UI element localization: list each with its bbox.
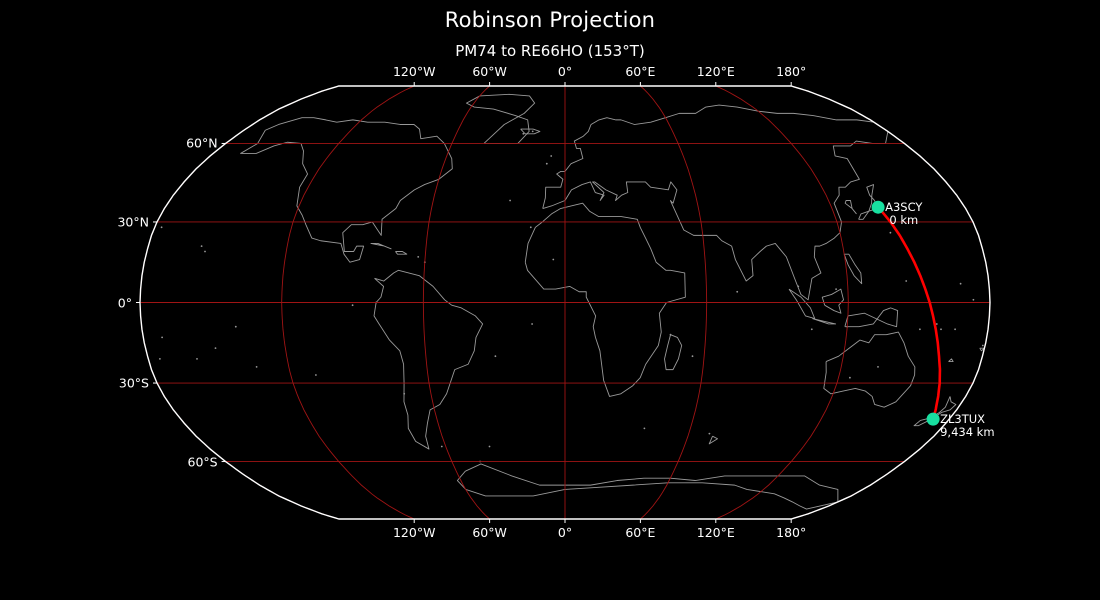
lon-tick-label-bottom: 180° [776, 525, 806, 540]
coastlines-layer [159, 94, 984, 509]
island-dot [495, 355, 497, 357]
island-dot [256, 366, 258, 368]
station-label-zl3tux: ZL3TUX9,434 km [940, 413, 994, 439]
island-dot [531, 323, 533, 325]
coastline-polygon [859, 185, 877, 220]
lat-tick-label: 30°N [117, 214, 149, 229]
island-dot [235, 326, 237, 328]
lon-tick-label-top: 180° [776, 64, 806, 79]
island-dot [940, 328, 942, 330]
coastline-polygon [844, 254, 862, 284]
map-canvas [0, 0, 1100, 600]
graticule-layer [140, 86, 990, 519]
island-dot [692, 355, 694, 357]
island-dot [670, 334, 672, 336]
coastline-polygon [789, 289, 815, 319]
lon-tick-label-top: 120°W [393, 64, 435, 79]
island-dot [736, 291, 738, 293]
island-dot [161, 226, 163, 228]
coastline-polygon [371, 243, 391, 248]
coastline-polygon [525, 203, 685, 396]
island-dot [709, 433, 711, 435]
station-distance: 0 km [885, 214, 922, 227]
lon-tick-label-top: 60°E [625, 64, 655, 79]
lon-tick-label-bottom: 120°E [697, 525, 735, 540]
island-dot [982, 345, 984, 347]
island-dot [196, 358, 198, 360]
island-dot [811, 328, 813, 330]
island-dot [530, 226, 532, 228]
coastline-polygon [374, 270, 483, 449]
coastline-polygon [241, 118, 453, 263]
island-dot [489, 446, 491, 448]
lat-tick-label: 60°S [188, 454, 218, 469]
island-dot [201, 245, 203, 247]
island-dot [797, 286, 799, 288]
island-dot [417, 256, 419, 258]
lon-tick-label-top: 120°E [697, 64, 735, 79]
island-dot [315, 374, 317, 376]
island-dot [919, 328, 921, 330]
island-dot [960, 283, 962, 285]
island-dot [835, 288, 837, 290]
coastline-polygon [466, 94, 534, 143]
island-dot [644, 428, 646, 430]
island-dot [215, 347, 217, 349]
island-dot [441, 446, 443, 448]
lat-tick-label: 0° [118, 295, 132, 310]
lat-tick-label: 60°N [186, 136, 218, 151]
island-dot [849, 377, 851, 379]
coastline-polygon [949, 359, 954, 362]
coastline-polygon [845, 308, 898, 327]
island-dot [546, 163, 548, 165]
island-dot [509, 200, 511, 202]
island-dot [877, 366, 879, 368]
coastline-polygon [812, 319, 835, 324]
island-dot [936, 323, 938, 325]
island-dot [161, 337, 163, 339]
station-marker-zl3tux[interactable] [927, 413, 940, 426]
island-dot [905, 280, 907, 282]
island-dot [204, 251, 206, 253]
island-dot [550, 155, 552, 157]
station-marker-a3scy[interactable] [872, 201, 885, 214]
map-figure: Robinson Projection PM74 to RE66HO (153°… [0, 0, 1100, 600]
lon-tick-label-bottom: 60°W [472, 525, 507, 540]
station-label-a3scy: A3SCY0 km [885, 201, 922, 227]
island-dot [522, 133, 524, 135]
lat-tick-label: 30°S [119, 376, 149, 391]
island-dot [552, 259, 554, 261]
island-dot [890, 232, 892, 234]
island-dot [954, 328, 956, 330]
coastline-polygon [543, 105, 888, 300]
coastline-polygon [709, 436, 717, 444]
island-dot [352, 304, 354, 306]
coastline-polygon [665, 335, 682, 370]
lon-tick-label-top: 60°W [472, 64, 507, 79]
island-dot [532, 131, 534, 133]
lon-tick-label-bottom: 0° [558, 525, 572, 540]
island-dot [403, 393, 405, 395]
island-dot [973, 299, 975, 301]
coastline-polygon [822, 289, 843, 313]
coastline-polygon [457, 464, 837, 509]
island-dot [159, 358, 161, 360]
station-distance: 9,434 km [940, 426, 994, 439]
coastline-polygon [845, 201, 856, 214]
lon-tick-label-bottom: 60°E [625, 525, 655, 540]
lon-tick-label-top: 0° [558, 64, 572, 79]
lon-tick-label-bottom: 120°W [393, 525, 435, 540]
coastline-polygon [824, 332, 915, 407]
coastline-polygon [395, 251, 406, 254]
